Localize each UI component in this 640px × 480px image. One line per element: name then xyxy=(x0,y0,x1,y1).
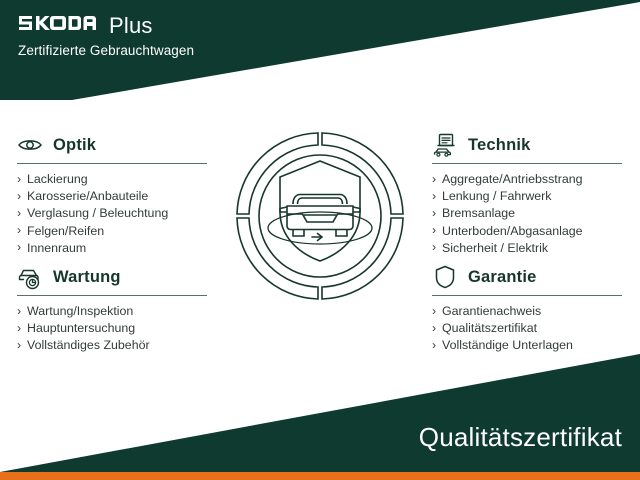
list-item: Unterboden/Abgasanlage xyxy=(432,223,628,240)
emblem-car xyxy=(280,195,360,237)
list-item: Karosserie/Anbauteile xyxy=(17,188,213,205)
list-item: Garantienachweis xyxy=(432,303,628,320)
section-garantie-header: Garantie xyxy=(432,262,628,292)
list-item: Lenkung / Fahrwerk xyxy=(432,188,628,205)
certified-vehicle-emblem xyxy=(232,128,408,304)
orange-accent-stripe xyxy=(0,472,640,480)
section-technik-title: Technik xyxy=(468,136,531,155)
skoda-wordmark xyxy=(18,13,102,37)
brand-plus-label: Plus xyxy=(109,15,153,37)
section-wartung-title: Wartung xyxy=(53,268,121,287)
car-clock-icon xyxy=(17,264,43,290)
footer-title: Qualitätszertifikat xyxy=(419,422,622,453)
section-wartung-list: Wartung/Inspektion Hauptuntersuchung Vol… xyxy=(17,303,213,355)
section-optik-list: Lackierung Karosserie/Anbauteile Verglas… xyxy=(17,171,213,257)
list-item: Innenraum xyxy=(17,240,213,257)
brand-tagline: Zertifizierte Gebrauchtwagen xyxy=(18,44,194,58)
emblem-orbit-arrow xyxy=(312,234,322,241)
section-technik-list: Aggregate/Antriebsstrang Lenkung / Fahrw… xyxy=(432,171,628,257)
list-item: Aggregate/Antriebsstrang xyxy=(432,171,628,188)
list-item: Verglasung / Beleuchtung xyxy=(17,205,213,222)
list-item: Sicherheit / Elektrik xyxy=(432,240,628,257)
skoda-wordmark-glyphs xyxy=(18,13,102,33)
emblem-shield xyxy=(280,161,360,261)
list-item: Lackierung xyxy=(17,171,213,188)
eye-icon xyxy=(17,132,43,158)
list-item: Vollständiges Zubehör xyxy=(17,337,213,354)
certificate-page: Plus Zertifizierte Gebrauchtwagen Optik … xyxy=(0,0,640,480)
brand-lockup: Plus Zertifizierte Gebrauchtwagen xyxy=(18,13,194,58)
section-wartung-header: Wartung xyxy=(17,262,213,292)
car-document-icon xyxy=(432,132,458,158)
list-item: Hauptuntersuchung xyxy=(17,320,213,337)
section-garantie: Garantie Garantienachweis Qualitätszerti… xyxy=(432,262,628,355)
bottom-banner xyxy=(0,354,640,472)
section-garantie-list: Garantienachweis Qualitätszertifikat Vol… xyxy=(432,303,628,355)
list-item: Wartung/Inspektion xyxy=(17,303,213,320)
list-item: Vollständige Unterlagen xyxy=(432,337,628,354)
list-item: Felgen/Reifen xyxy=(17,223,213,240)
section-optik-header: Optik xyxy=(17,130,213,160)
emblem-inner-circle xyxy=(259,155,381,277)
section-optik-rule xyxy=(17,163,207,164)
section-garantie-rule xyxy=(432,295,622,296)
shield-icon xyxy=(432,264,458,290)
brand-row: Plus xyxy=(18,13,194,37)
list-item: Bremsanlage xyxy=(432,205,628,222)
list-item: Qualitätszertifikat xyxy=(432,320,628,337)
emblem-outer-ring xyxy=(237,133,403,299)
section-wartung: Wartung Wartung/Inspektion Hauptuntersuc… xyxy=(17,262,213,355)
section-optik: Optik Lackierung Karosserie/Anbauteile V… xyxy=(17,130,213,257)
section-technik-header: Technik xyxy=(432,130,628,160)
section-technik: Technik Aggregate/Antriebsstrang Lenkung… xyxy=(432,130,628,257)
section-optik-title: Optik xyxy=(53,136,96,155)
section-technik-rule xyxy=(432,163,622,164)
section-garantie-title: Garantie xyxy=(468,268,537,287)
section-wartung-rule xyxy=(17,295,207,296)
